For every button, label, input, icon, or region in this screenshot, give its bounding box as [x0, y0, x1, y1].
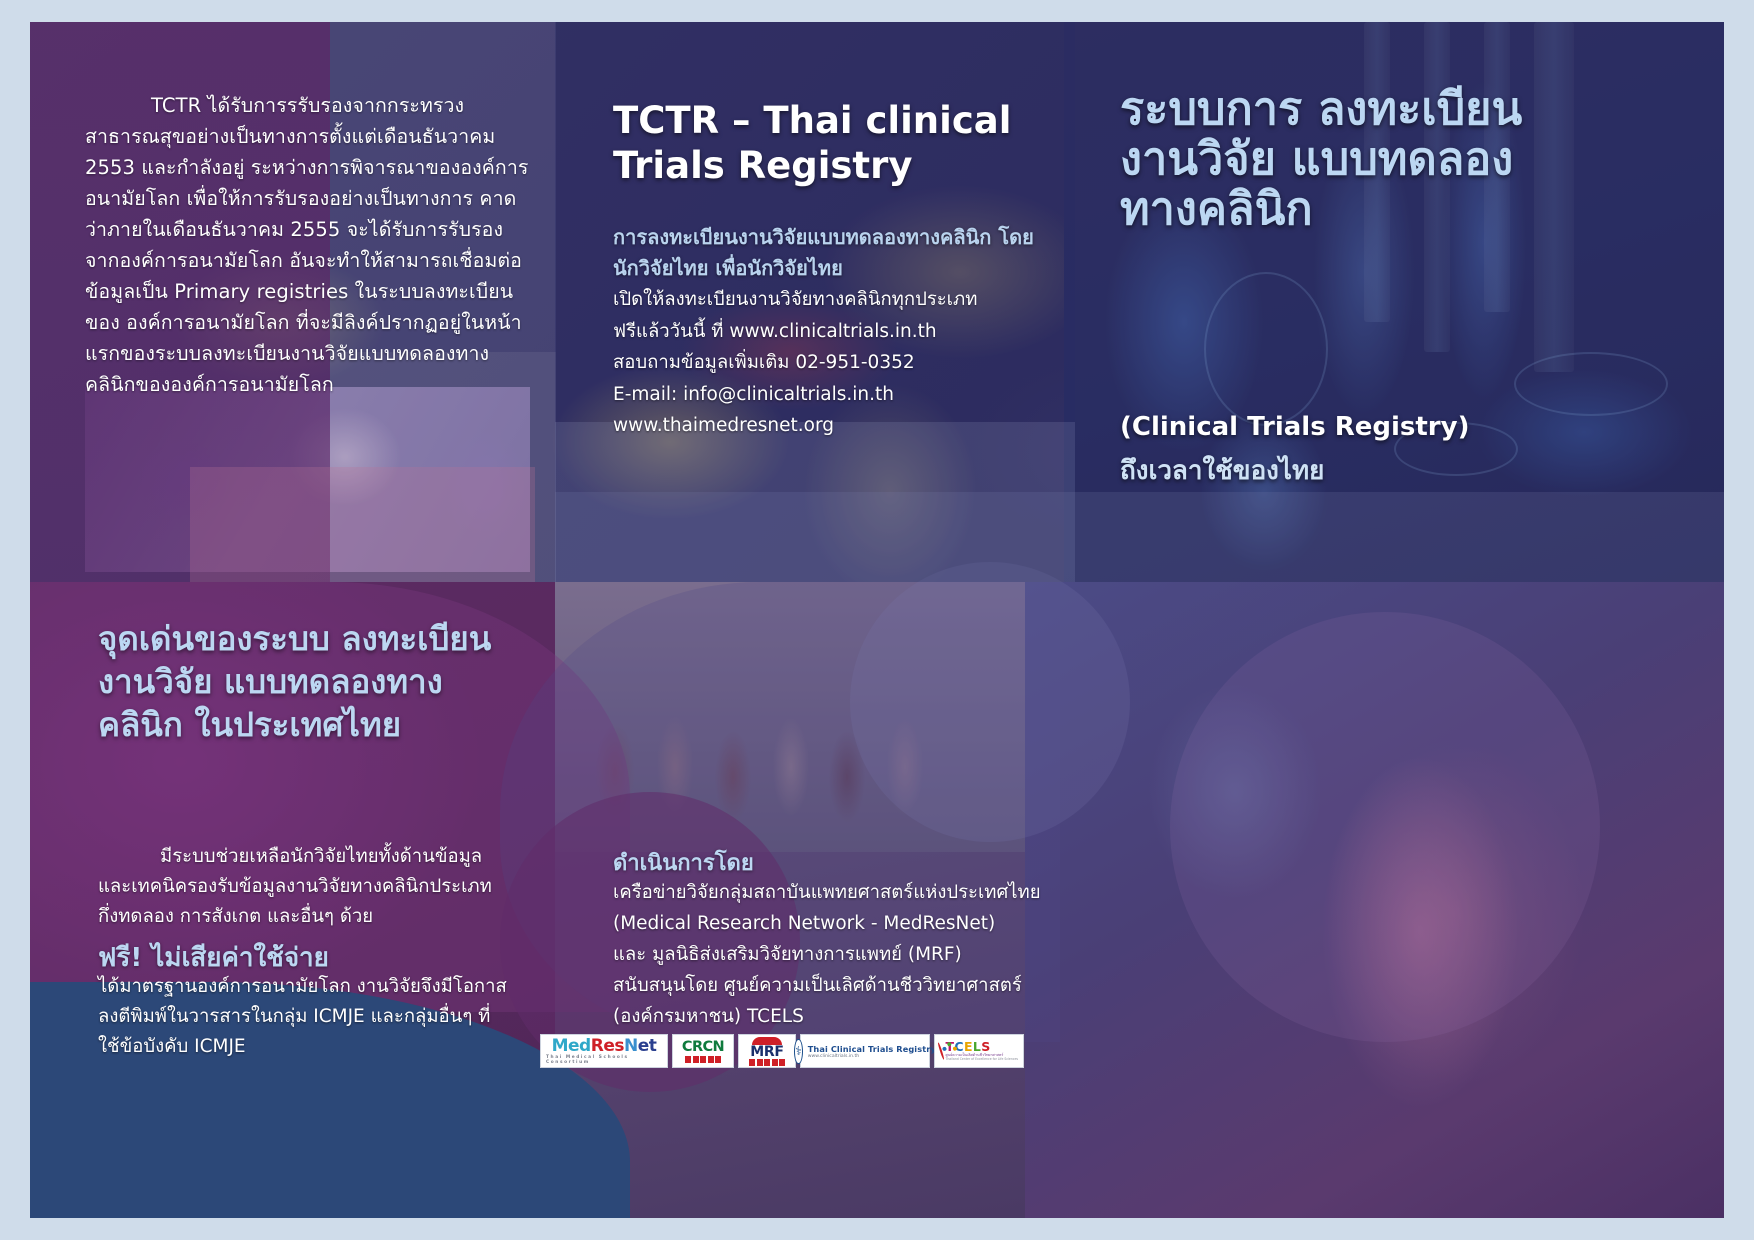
caduceus-seal-icon: ⚕ [794, 1039, 803, 1064]
contact-block: เปิดให้ลงทะเบียนงานวิจัยทางคลินิกทุกประเ… [613, 284, 1053, 442]
mrf-logo[interactable]: MRF [738, 1034, 796, 1068]
subtitle-thai: การลงทะเบียนงานวิจัยแบบทดลองทางคลินิก โด… [613, 222, 1043, 284]
intro-paragraph: TCTR ได้รับการรรับรองจากกระทรวงสาธารณสุข… [85, 90, 535, 400]
contact-line-email[interactable]: E-mail: info@clinicaltrials.in.th [613, 379, 1053, 411]
hero-heading-english: (Clinical Trials Registry) [1120, 410, 1580, 444]
hero-tagline: ถึงเวลาใช้ของไทย [1120, 454, 1580, 488]
operator-heading: ดำเนินการโดย [613, 845, 754, 880]
operator-line-network: เครือข่ายวิจัยกลุ่มสถาบันแพทยศาสตร์แห่งป… [613, 877, 1083, 908]
tcels-logo[interactable]: TCELS ศูนย์ความเป็นเลิศด้านชีววิทยาศาสตร… [934, 1034, 1024, 1068]
operator-line-mrf: และ มูลนิธิส่งเสริมวิจัยทางการแพทย์ (MRF… [613, 939, 1083, 970]
hero-heading-thai: ระบบการ ลงทะเบียน งานวิจัย แบบทดลอง ทางค… [1120, 84, 1540, 234]
tctr-title: Thai Clinical Trials Registry [808, 1044, 936, 1054]
features-heading: จุดเด่นของระบบ ลงทะเบียนงานวิจัย แบบทดลอ… [98, 617, 518, 746]
tcels-orbit-icon [937, 1042, 945, 1060]
contact-line-phone[interactable]: สอบถามข้อมูลเพิ่มเติม 02-951-0352 [613, 347, 1053, 379]
tctr-logo[interactable]: ⚕ Thai Clinical Trials Registry www.clin… [800, 1034, 930, 1068]
medresnet-part-res: Res [591, 1036, 624, 1056]
brand-circle-mid-upper [850, 562, 1130, 842]
mrf-wordmark: MRF [750, 1045, 783, 1059]
crcn-wordmark: CRCN [682, 1040, 724, 1055]
medresnet-wordmark: MedResNet [552, 1037, 657, 1055]
crcn-logo[interactable]: CRCN [672, 1034, 734, 1068]
medresnet-part-med: Med [552, 1036, 591, 1056]
contact-line-org-website[interactable]: www.thaimedresnet.org [613, 410, 1053, 442]
tcels-sub-english: Thailand Center of Excellence for Life S… [945, 1058, 1018, 1061]
tcels-text-block: TCELS ศูนย์ความเป็นเลิศด้านชีววิทยาศาสตร… [945, 1041, 1018, 1060]
medresnet-part-et: et [638, 1036, 657, 1056]
contact-line-website[interactable]: ฟรีแล้ววันนี้ ที่ www.clinicaltrials.in.… [613, 316, 1053, 348]
features-body: มีระบบช่วยเหลือนักวิจัยไทยทั้งด้านข้อมูล… [98, 842, 498, 932]
overlay-rose [190, 467, 535, 582]
page-title-english: TCTR – Thai clinical Trials Registry [613, 98, 1033, 188]
medresnet-part-n: N [624, 1036, 638, 1056]
poster-canvas: TCTR ได้รับการรรับรองจากกระทรวงสาธารณสุข… [30, 22, 1724, 1218]
contact-line-registration: เปิดให้ลงทะเบียนงานวิจัยทางคลินิกทุกประเ… [613, 284, 1053, 316]
operator-line-medresnet: (Medical Research Network - MedResNet) [613, 908, 1083, 939]
tctr-text-block: Thai Clinical Trials Registry www.clinic… [808, 1044, 936, 1059]
operator-line-support: สนับสนุนโดย ศูนย์ความเป็นเลิศด้านชีววิทย… [613, 970, 1083, 1001]
operator-body: เครือข่ายวิจัยกลุ่มสถาบันแพทยศาสตร์แห่งป… [613, 877, 1083, 1032]
sponsor-logo-bar: MedResNet Thai Medical Schools Consortiu… [540, 1034, 1024, 1068]
mrf-bars-icon [749, 1059, 785, 1066]
crcn-bars-icon [685, 1056, 721, 1063]
medresnet-logo[interactable]: MedResNet Thai Medical Schools Consortiu… [540, 1034, 668, 1068]
medresnet-tagline: Thai Medical Schools Consortium [546, 1055, 662, 1065]
operator-line-tcels: (องค์กรมหาชน) TCELS [613, 1001, 1083, 1032]
free-body: ได้มาตรฐานองค์การอนามัยโลก งานวิจัยจึงมี… [98, 972, 508, 1062]
overlay-bottom-haze [555, 492, 1724, 582]
brand-circle-right [1170, 612, 1600, 1042]
tctr-url: www.clinicaltrials.in.th [808, 1054, 936, 1059]
